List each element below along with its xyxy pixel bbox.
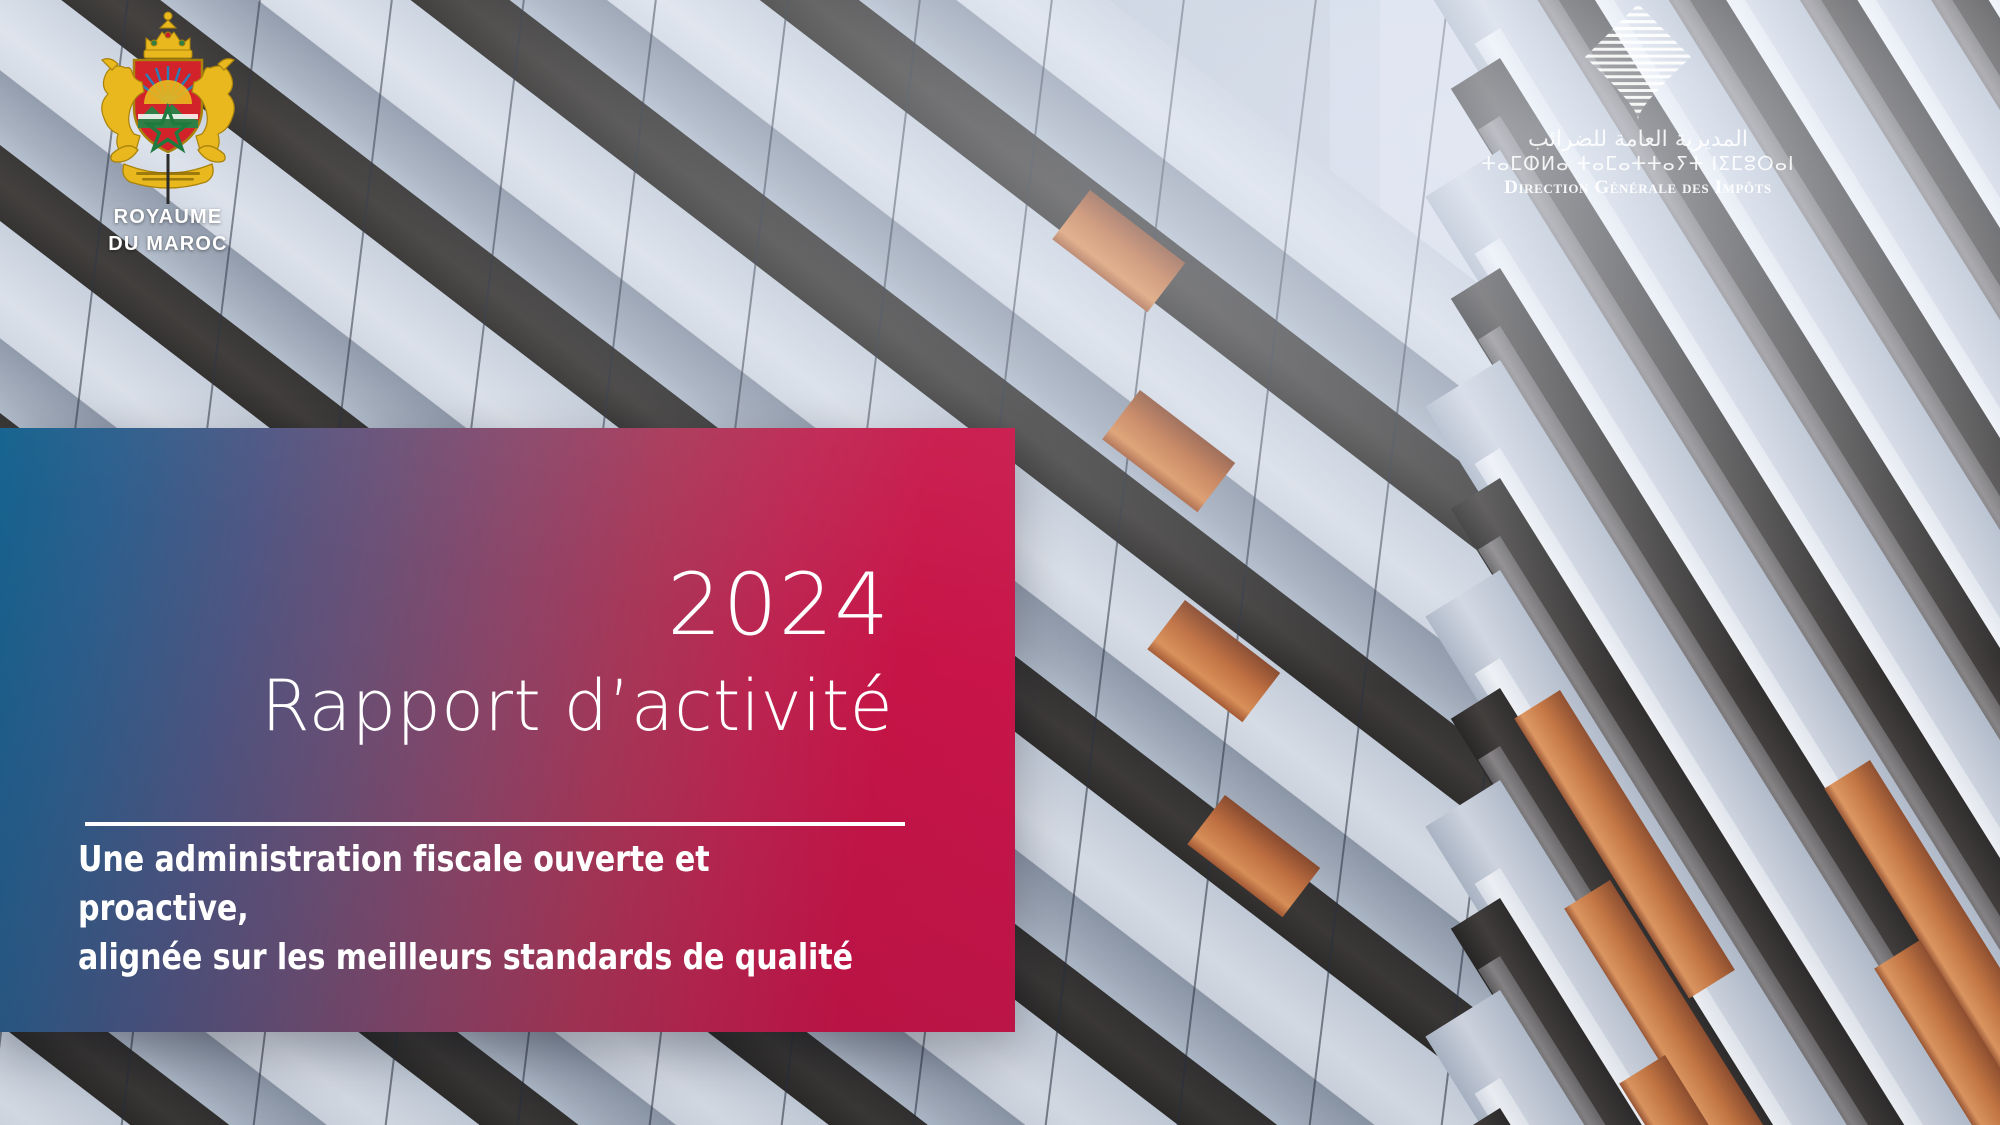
title-banner-content: 2024 Rapport d’activité Une administrati… (0, 428, 1015, 1032)
dgi-tifinagh-name: ⵜⴰⵎⵀⵍⴰ ⵜⴰⵎⴰⵜⵜⴰⵢⵜ ⵏⵉⵎⵓⵔⴰⵏ (1428, 153, 1848, 176)
royal-emblem-block: ROYAUME DU MAROC (48, 4, 288, 257)
report-tagline-line2: alignée sur les meilleurs standards de q… (78, 934, 878, 983)
kingdom-label-line1: ROYAUME (48, 204, 288, 231)
moroccan-coat-of-arms-icon (68, 4, 268, 204)
dgi-diamond-icon (1579, 2, 1697, 122)
report-tagline: Une administration fiscale ouverte et pr… (78, 836, 878, 983)
report-title: Rapport d’activité (261, 671, 893, 741)
dgi-logo-block: المديرية العامة للضرائب ⵜⴰⵎⵀⵍⴰ ⵜⴰⵎⴰⵜⵜⴰⵢⵜ… (1428, 2, 1848, 200)
kingdom-label-line2: DU MAROC (48, 231, 288, 258)
report-cover-page: ROYAUME DU MAROC (0, 0, 2000, 1125)
dgi-arabic-name: المديرية العامة للضرائب (1428, 128, 1848, 151)
dgi-french-name: Direction Générale des Impôts (1428, 177, 1848, 200)
title-banner: 2024 Rapport d’activité Une administrati… (0, 428, 1015, 1032)
kingdom-label: ROYAUME DU MAROC (48, 204, 288, 257)
report-year: 2024 (667, 562, 890, 648)
report-tagline-line1: Une administration fiscale ouverte et pr… (78, 836, 878, 934)
title-divider-rule (85, 822, 905, 826)
